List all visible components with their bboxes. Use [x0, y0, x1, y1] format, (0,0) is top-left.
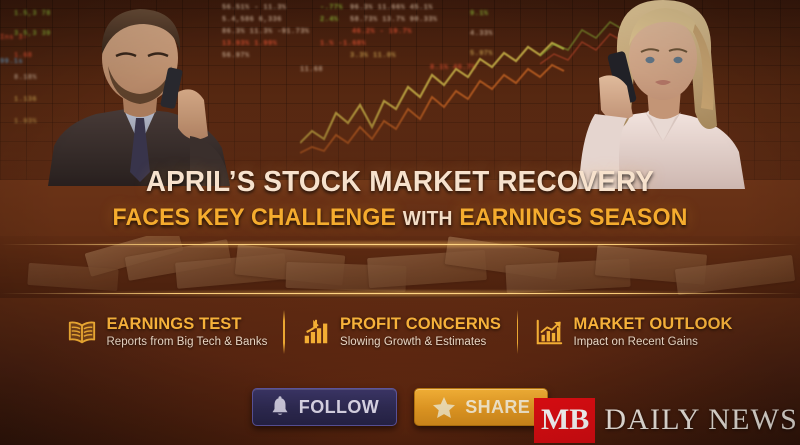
headline-with: WITH: [396, 208, 459, 230]
follow-button-label: FOLLOW: [299, 397, 379, 418]
feature-subtitle: Reports from Big Tech & Banks: [106, 336, 267, 349]
features-divider: [0, 292, 800, 295]
watermark: MB DAILY NEWS: [534, 398, 800, 442]
share-button-label: SHARE: [465, 397, 530, 418]
watermark-badge: MB: [534, 398, 595, 443]
watermark-text: DAILY NEWS: [595, 403, 800, 437]
feature-market-outlook: MARKET OUTLOOK Impact on Recent Gains: [518, 315, 748, 349]
feature-subtitle: Slowing Growth & Estimates: [340, 336, 486, 349]
headline-divider: [0, 243, 800, 246]
follow-button[interactable]: FOLLOW: [252, 388, 397, 426]
open-book-icon: [67, 317, 97, 347]
star-icon: [432, 396, 456, 419]
feature-earnings-test: EARNINGS TEST Reports from Big Tech & Ba…: [51, 315, 283, 349]
feature-title: PROFIT CONCERNS: [340, 315, 501, 333]
share-button[interactable]: SHARE: [414, 388, 548, 426]
feature-profit-concerns: PROFIT CONCERNS Slowing Growth & Estimat…: [285, 315, 517, 349]
businesswoman-photo: [555, 0, 770, 189]
feature-title: MARKET OUTLOOK: [573, 315, 732, 333]
headline-line-1: APRIL’S STOCK MARKET RECOVERY: [16, 168, 784, 197]
feature-title: EARNINGS TEST: [106, 315, 241, 333]
headline-line-2: FACES KEY CHALLENGEWITHEARNINGS SEASON: [16, 206, 784, 230]
market-chart-icon: [534, 317, 564, 347]
businessman-photo: [40, 0, 270, 186]
profit-chart-icon: [301, 317, 331, 347]
feature-row: EARNINGS TEST Reports from Big Tech & Ba…: [0, 303, 800, 361]
feature-text: PROFIT CONCERNS Slowing Growth & Estimat…: [340, 315, 501, 349]
headline-block: APRIL’S STOCK MARKET RECOVERY FACES KEY …: [0, 168, 800, 230]
feature-text: MARKET OUTLOOK Impact on Recent Gains: [573, 315, 732, 349]
news-thumbnail-card: 1.5,3 78 3.5,3 39 1.68 8.18% 1.136 1.93%…: [0, 0, 800, 445]
headline-gold-b: EARNINGS SEASON: [459, 204, 687, 231]
feature-text: EARNINGS TEST Reports from Big Tech & Ba…: [106, 315, 267, 349]
feature-subtitle: Impact on Recent Gains: [573, 336, 697, 349]
headline-gold-a: FACES KEY CHALLENGE: [112, 204, 396, 231]
bell-icon: [270, 396, 290, 418]
